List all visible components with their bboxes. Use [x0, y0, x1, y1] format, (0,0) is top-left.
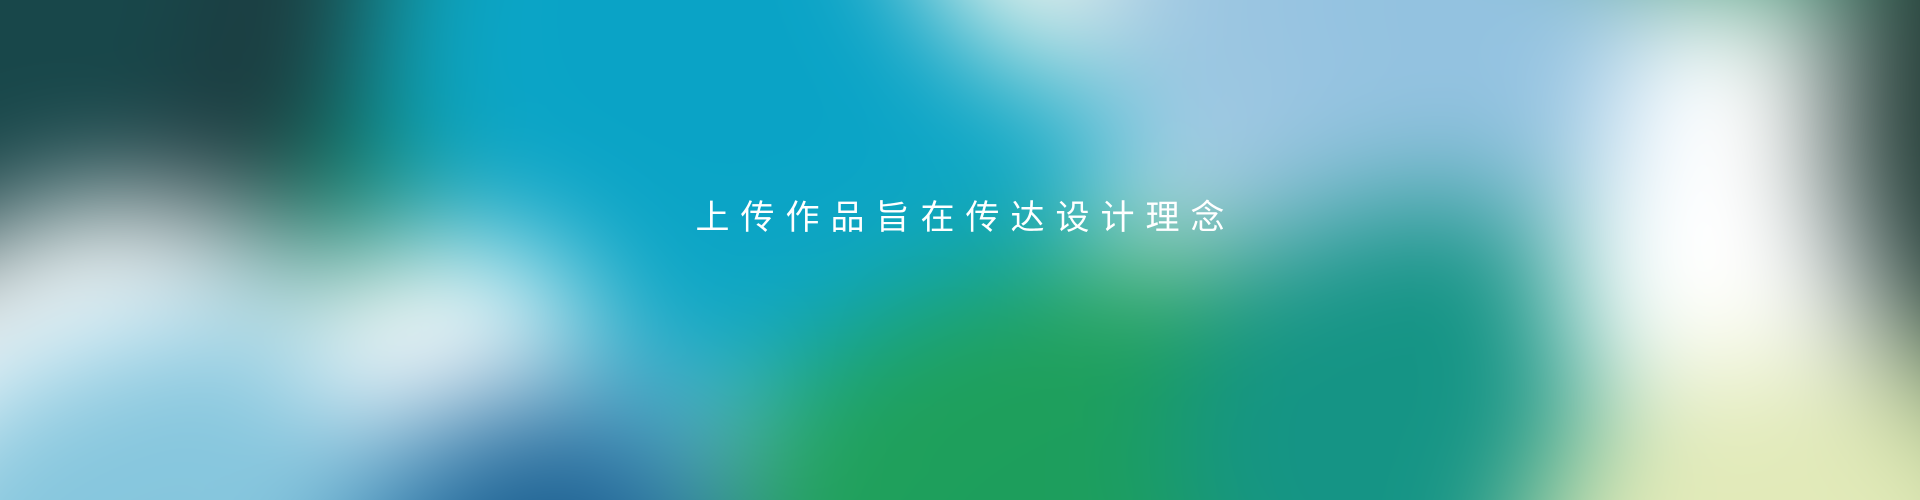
hero-banner: 上传作品旨在传达设计理念 [0, 0, 1920, 500]
banner-headline: 上传作品旨在传达设计理念 [0, 196, 1920, 240]
gradient-background [0, 0, 1920, 500]
